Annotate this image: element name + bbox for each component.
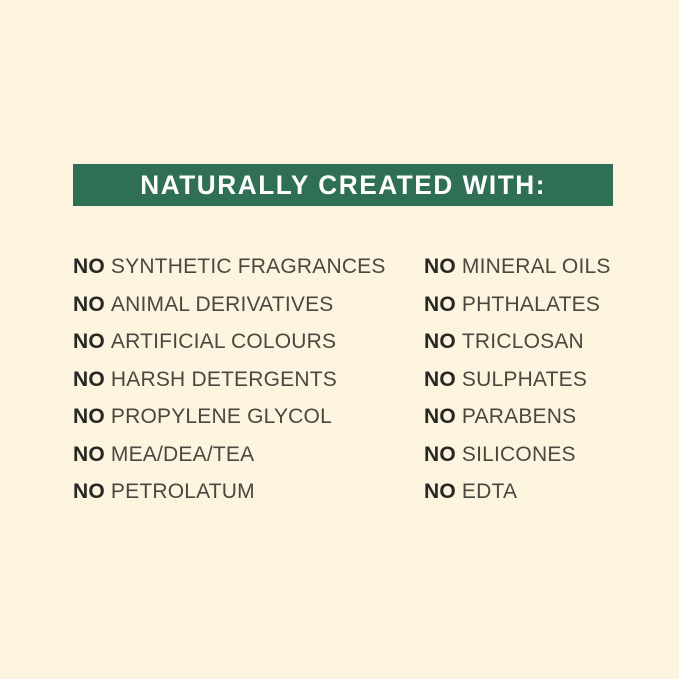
claim-label: MINERAL OILS: [462, 255, 611, 278]
no-prefix: NO: [73, 443, 105, 466]
list-item: NO PETROLATUM: [73, 473, 413, 511]
claim-label: PARABENS: [462, 405, 576, 428]
no-prefix: NO: [424, 293, 456, 316]
no-prefix: NO: [73, 480, 105, 503]
list-item: NO PHTHALATES: [424, 286, 664, 324]
list-item: NO EDTA: [424, 473, 664, 511]
no-prefix: NO: [73, 405, 105, 428]
claims-list-right: NO MINERAL OILS NO PHTHALATES NO TRICLOS…: [424, 248, 664, 511]
no-prefix: NO: [424, 405, 456, 428]
no-prefix: NO: [73, 368, 105, 391]
claim-label: SULPHATES: [462, 368, 587, 391]
list-item: NO ANIMAL DERIVATIVES: [73, 286, 413, 324]
no-prefix: NO: [424, 330, 456, 353]
banner: NATURALLY CREATED WITH:: [73, 164, 613, 206]
claim-label: PHTHALATES: [462, 293, 600, 316]
no-prefix: NO: [424, 480, 456, 503]
no-prefix: NO: [73, 330, 105, 353]
claims-list-left: NO SYNTHETIC FRAGRANCES NO ANIMAL DERIVA…: [73, 248, 413, 511]
list-item: NO MINERAL OILS: [424, 248, 664, 286]
no-prefix: NO: [73, 255, 105, 278]
claim-label: SILICONES: [462, 443, 576, 466]
claim-label: MEA/DEA/TEA: [111, 443, 254, 466]
claims-lists: NO SYNTHETIC FRAGRANCES NO ANIMAL DERIVA…: [0, 248, 679, 518]
claim-label: PETROLATUM: [111, 480, 255, 503]
list-item: NO SYNTHETIC FRAGRANCES: [73, 248, 413, 286]
claim-label: ARTIFICIAL COLOURS: [111, 330, 336, 353]
list-item: NO PROPYLENE GLYCOL: [73, 398, 413, 436]
list-item: NO MEA/DEA/TEA: [73, 436, 413, 474]
claim-label: HARSH DETERGENTS: [111, 368, 337, 391]
claim-label: EDTA: [462, 480, 517, 503]
no-prefix: NO: [424, 443, 456, 466]
list-item: NO SULPHATES: [424, 361, 664, 399]
list-item: NO ARTIFICIAL COLOURS: [73, 323, 413, 361]
claims-column-left: NO SYNTHETIC FRAGRANCES NO ANIMAL DERIVA…: [73, 248, 413, 511]
list-item: NO PARABENS: [424, 398, 664, 436]
list-item: NO SILICONES: [424, 436, 664, 474]
claim-label: TRICLOSAN: [462, 330, 584, 353]
ingredient-claims-poster: NATURALLY CREATED WITH: NO SYNTHETIC FRA…: [0, 0, 679, 679]
list-item: NO TRICLOSAN: [424, 323, 664, 361]
claim-label: SYNTHETIC FRAGRANCES: [111, 255, 386, 278]
page-title: NATURALLY CREATED WITH:: [140, 172, 546, 199]
no-prefix: NO: [73, 293, 105, 316]
claims-column-right: NO MINERAL OILS NO PHTHALATES NO TRICLOS…: [424, 248, 664, 511]
claim-label: PROPYLENE GLYCOL: [111, 405, 332, 428]
claim-label: ANIMAL DERIVATIVES: [111, 293, 334, 316]
no-prefix: NO: [424, 368, 456, 391]
no-prefix: NO: [424, 255, 456, 278]
list-item: NO HARSH DETERGENTS: [73, 361, 413, 399]
